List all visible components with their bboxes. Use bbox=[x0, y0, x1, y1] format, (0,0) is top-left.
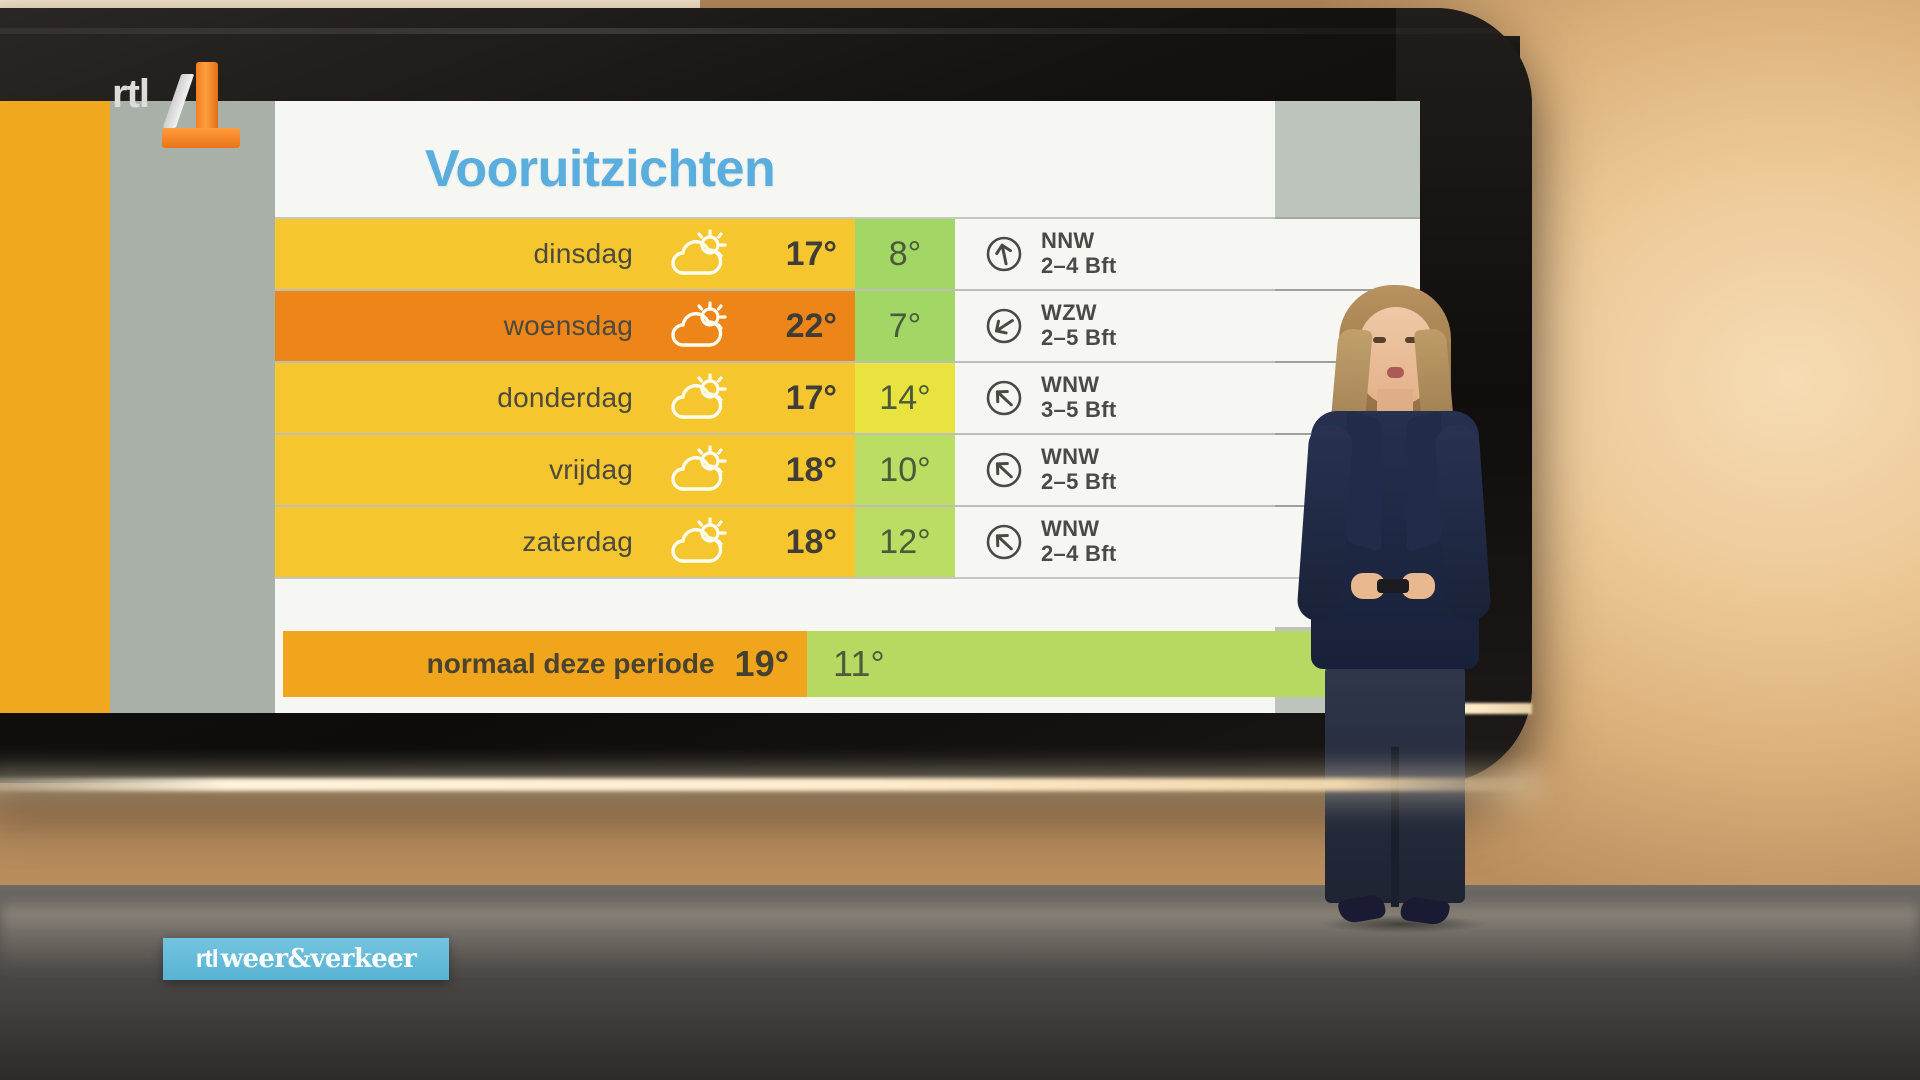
max-temp: 17° bbox=[786, 235, 837, 274]
rtl-four-stem bbox=[196, 62, 218, 136]
weather-display-screen: Vooruitzichten dinsdag bbox=[0, 101, 1420, 713]
min-temp: 14° bbox=[879, 379, 930, 418]
presenter-clicker bbox=[1377, 579, 1409, 593]
banner-rtl-prefix: rtl bbox=[196, 945, 218, 974]
wind-info: WNW 3–5 Bft bbox=[1041, 373, 1116, 422]
wind-direction: WZW bbox=[1041, 300, 1097, 325]
row-icon-cell bbox=[655, 291, 743, 361]
normal-max-cell: normaal deze periode 19° bbox=[283, 631, 807, 697]
wind-direction-arrow-icon bbox=[983, 449, 1025, 491]
table-row[interactable]: vrijdag bbox=[275, 433, 1420, 505]
wind-direction: WNW bbox=[1041, 372, 1099, 397]
max-temp: 18° bbox=[786, 451, 837, 490]
day-label: zaterdag bbox=[522, 526, 633, 558]
row-day-cell: vrijdag bbox=[275, 435, 655, 505]
row-icon-cell bbox=[655, 435, 743, 505]
wind-info: NNW 2–4 Bft bbox=[1041, 229, 1116, 278]
row-max-cell: 18° bbox=[743, 435, 855, 505]
normal-max-temp: 19° bbox=[735, 643, 789, 685]
lower-third-banner: rtl weer&verkeer bbox=[163, 938, 449, 980]
row-min-cell: 14° bbox=[855, 363, 955, 433]
sun-behind-cloud-icon bbox=[668, 372, 730, 424]
wind-force: 2–5 Bft bbox=[1041, 469, 1116, 494]
wind-info: WZW 2–5 Bft bbox=[1041, 301, 1116, 350]
bezel-highlight bbox=[0, 28, 1510, 34]
day-label: vrijdag bbox=[549, 454, 633, 486]
normal-period-row: normaal deze periode 19° 11° bbox=[275, 631, 1420, 697]
wind-direction: NNW bbox=[1041, 228, 1094, 253]
row-day-cell: woensdag bbox=[275, 291, 655, 361]
wind-force: 2–4 Bft bbox=[1041, 253, 1116, 278]
wind-force: 2–4 Bft bbox=[1041, 541, 1116, 566]
max-temp: 17° bbox=[786, 379, 837, 418]
page-title: Vooruitzichten bbox=[425, 139, 775, 199]
min-temp: 7° bbox=[889, 307, 922, 346]
screen-gold-band bbox=[0, 101, 110, 713]
banner-program-title: weer&verkeer bbox=[221, 944, 417, 974]
row-max-cell: 18° bbox=[743, 507, 855, 577]
sun-behind-cloud-icon bbox=[668, 228, 730, 280]
row-wind-cell: NNW 2–4 Bft bbox=[955, 219, 1420, 289]
row-icon-cell bbox=[655, 363, 743, 433]
row-min-cell: 10° bbox=[855, 435, 955, 505]
row-day-cell: dinsdag bbox=[275, 219, 655, 289]
presenter-lapel-right bbox=[1407, 410, 1441, 552]
weather-presenter bbox=[1255, 285, 1530, 1005]
row-min-cell: 7° bbox=[855, 291, 955, 361]
day-label: woensdag bbox=[504, 310, 633, 342]
row-max-cell: 17° bbox=[743, 219, 855, 289]
max-temp: 22° bbox=[786, 307, 837, 346]
row-max-cell: 17° bbox=[743, 363, 855, 433]
wind-direction: WNW bbox=[1041, 516, 1099, 541]
studio-scene: Vooruitzichten dinsdag bbox=[0, 0, 1920, 1080]
table-row[interactable]: donderdag bbox=[275, 361, 1420, 433]
rtl4-logo: rtl bbox=[112, 52, 240, 144]
row-icon-cell bbox=[655, 219, 743, 289]
day-label: donderdag bbox=[497, 382, 633, 414]
forecast-graphic: Vooruitzichten dinsdag bbox=[275, 101, 1420, 713]
table-spacer-row bbox=[275, 577, 1420, 627]
presenter-eye-left bbox=[1373, 337, 1386, 343]
table-row[interactable]: woensdag bbox=[275, 289, 1420, 361]
wind-force: 3–5 Bft bbox=[1041, 397, 1116, 422]
row-day-cell: zaterdag bbox=[275, 507, 655, 577]
min-temp: 10° bbox=[879, 451, 930, 490]
forecast-table: dinsdag bbox=[275, 217, 1420, 627]
wind-direction-arrow-icon bbox=[983, 233, 1025, 275]
wind-info: WNW 2–4 Bft bbox=[1041, 517, 1116, 566]
min-temp: 8° bbox=[889, 235, 922, 274]
table-row[interactable]: zaterdag bbox=[275, 505, 1420, 577]
rtl-four-bar bbox=[162, 128, 240, 148]
sun-behind-cloud-icon bbox=[668, 300, 730, 352]
wind-direction-arrow-icon bbox=[983, 377, 1025, 419]
sun-behind-cloud-icon bbox=[668, 516, 730, 568]
row-day-cell: donderdag bbox=[275, 363, 655, 433]
under-bezel-light-strip bbox=[0, 778, 1525, 791]
wind-direction: WNW bbox=[1041, 444, 1099, 469]
wind-direction-arrow-icon bbox=[983, 521, 1025, 563]
max-temp: 18° bbox=[786, 523, 837, 562]
row-min-cell: 12° bbox=[855, 507, 955, 577]
wind-direction-arrow-icon bbox=[983, 305, 1025, 347]
table-row[interactable]: dinsdag bbox=[275, 217, 1420, 289]
sun-behind-cloud-icon bbox=[668, 444, 730, 496]
presenter-mouth bbox=[1387, 367, 1404, 378]
wind-info: WNW 2–5 Bft bbox=[1041, 445, 1116, 494]
normal-label: normaal deze periode bbox=[427, 648, 715, 680]
row-icon-cell bbox=[655, 507, 743, 577]
row-max-cell: 22° bbox=[743, 291, 855, 361]
normal-min-temp: 11° bbox=[833, 643, 885, 685]
day-label: dinsdag bbox=[534, 238, 633, 270]
rtl-slash-shape bbox=[163, 74, 195, 128]
row-min-cell: 8° bbox=[855, 219, 955, 289]
min-temp: 12° bbox=[879, 523, 930, 562]
screen-grey-band bbox=[110, 101, 275, 713]
presenter-lapel-left bbox=[1347, 410, 1381, 552]
rtl-wordmark: rtl bbox=[112, 72, 149, 117]
wind-force: 2–5 Bft bbox=[1041, 325, 1116, 350]
